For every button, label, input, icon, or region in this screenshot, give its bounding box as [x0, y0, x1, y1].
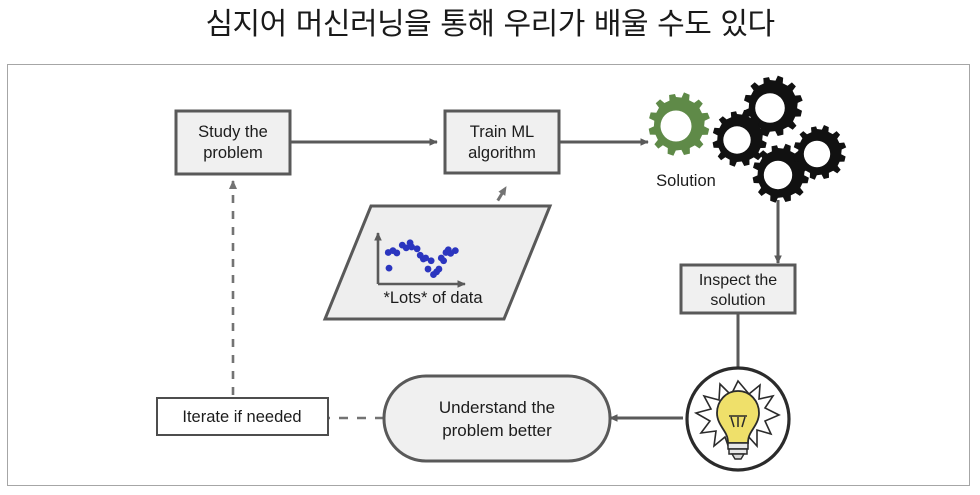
gear-black-right-icon — [794, 125, 847, 180]
gear-black-middle-icon — [713, 110, 768, 167]
scatter-point — [393, 250, 400, 257]
train-ml-line1: Train ML — [470, 123, 535, 141]
scatter-point — [386, 265, 393, 272]
understand-problem-pill[interactable] — [384, 376, 610, 461]
understand-problem-line2: problem better — [442, 421, 552, 440]
scatter-point — [452, 247, 459, 254]
scatter-point — [436, 266, 443, 273]
inspect-solution-line2: solution — [710, 292, 765, 309]
solution-label: Solution — [656, 172, 716, 190]
inspect-solution-line1: Inspect the — [699, 272, 777, 289]
bulb-base-lower — [729, 449, 747, 454]
node-train-ml-algorithm[interactable]: Train ML algorithm — [445, 111, 559, 173]
node-lots-of-data[interactable]: *Lots* of data — [325, 206, 550, 319]
bulb-base — [728, 443, 748, 449]
iterate-label: Iterate if needed — [182, 408, 301, 426]
lots-of-data-caption: *Lots* of data — [383, 289, 483, 307]
node-inspect-the-solution[interactable]: Inspect the solution — [681, 265, 795, 313]
ml-workflow-diagram: Study the problem Train ML algorithm — [8, 65, 968, 484]
lightbulb-icon[interactable] — [687, 368, 789, 470]
figure-frame: Study the problem Train ML algorithm — [7, 64, 970, 486]
study-problem-line1: Study the — [198, 123, 268, 141]
node-study-the-problem[interactable]: Study the problem — [176, 111, 290, 174]
study-problem-line2: problem — [203, 144, 263, 162]
scatter-point — [425, 266, 432, 273]
understand-problem-line1: Understand the — [439, 398, 555, 417]
train-ml-box[interactable] — [445, 111, 559, 173]
node-understand-the-problem-better[interactable]: Understand the problem better — [384, 376, 610, 461]
study-problem-box[interactable] — [176, 111, 290, 174]
scatter-point — [440, 257, 447, 264]
scatter-point — [414, 245, 421, 252]
bulb-contact — [732, 454, 744, 459]
page-title: 심지어 머신러닝을 통해 우리가 배울 수도 있다 — [0, 0, 980, 56]
scatter-point — [428, 257, 435, 264]
node-iterate-if-needed[interactable]: Iterate if needed — [157, 398, 328, 435]
gear-green-icon — [649, 92, 710, 155]
train-ml-line2: algorithm — [468, 144, 536, 162]
figure-page: 심지어 머신러닝을 통해 우리가 배울 수도 있다 — [0, 0, 980, 495]
